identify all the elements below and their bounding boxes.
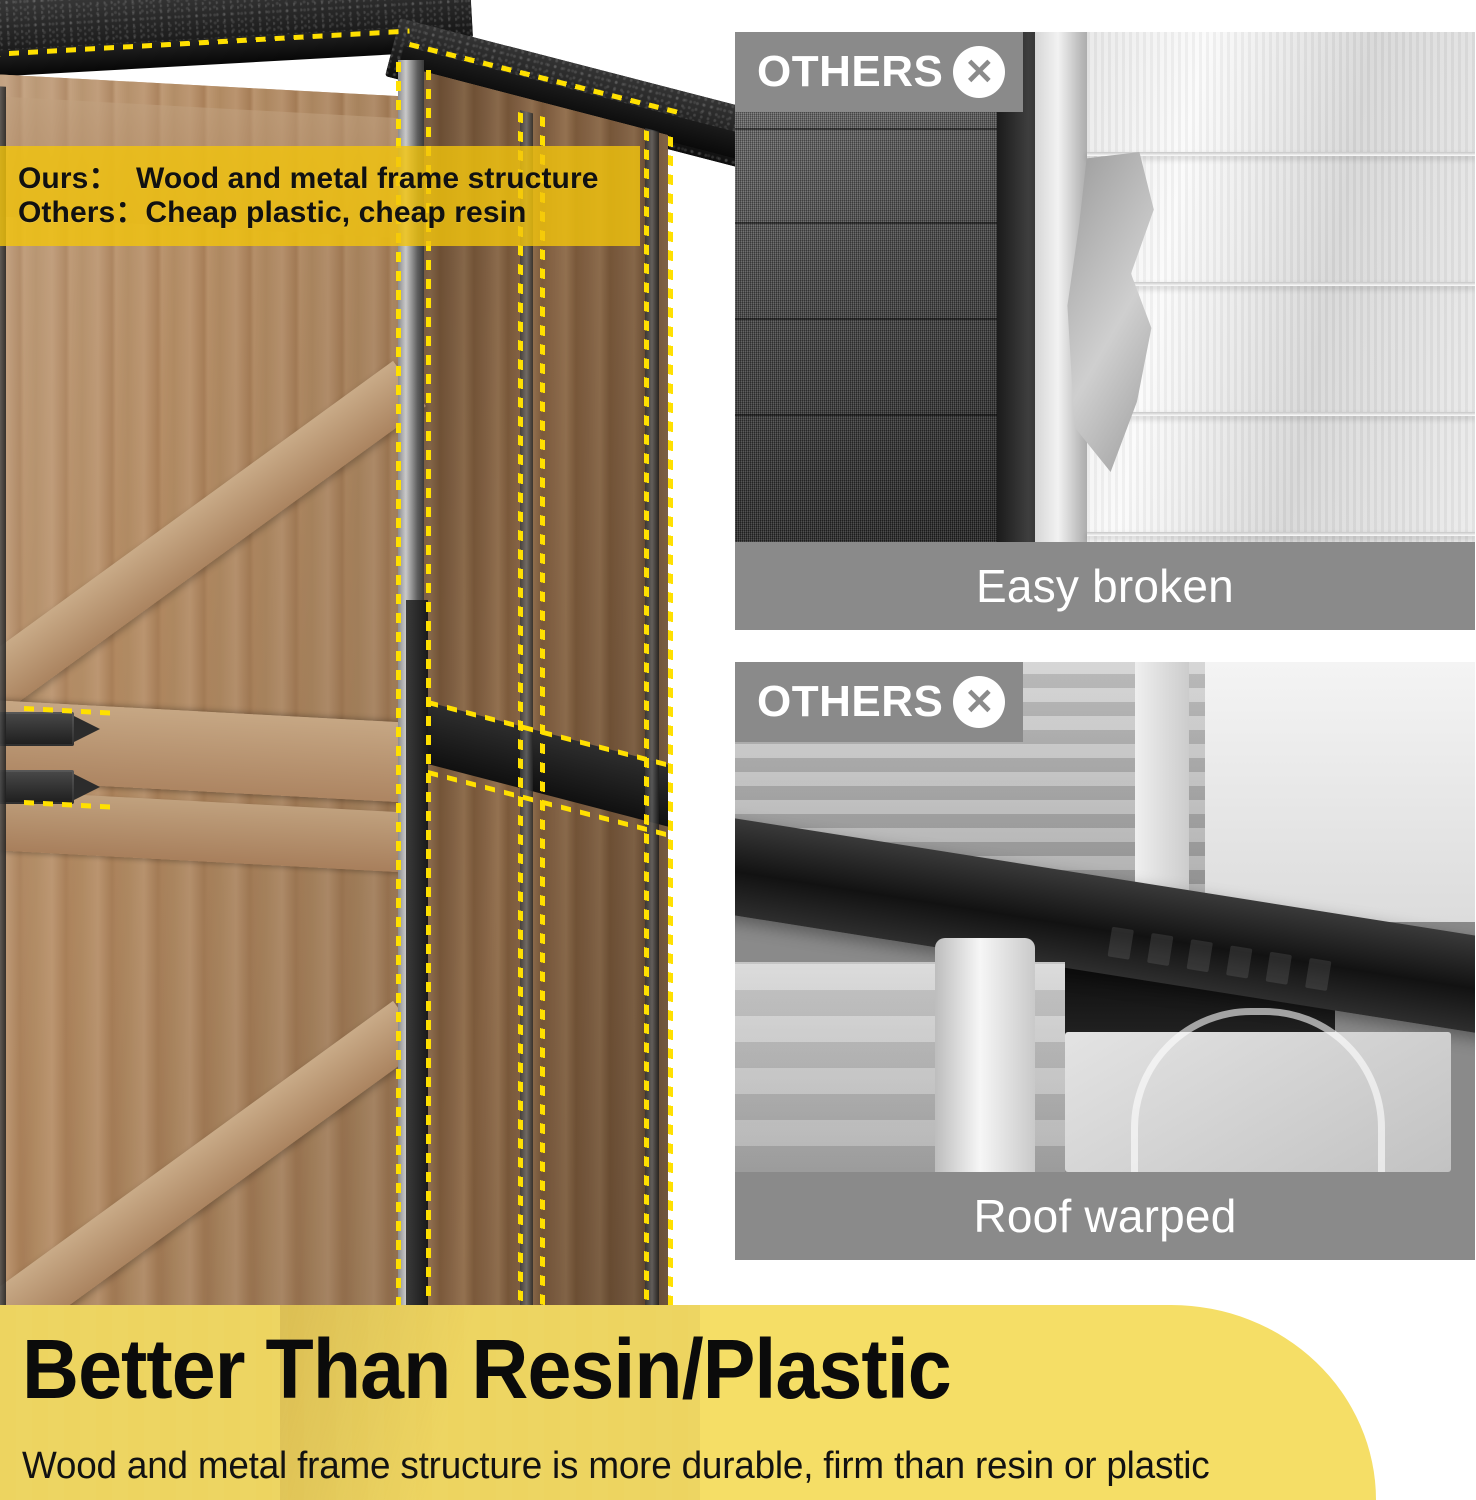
others-badge: OTHERS ✕ bbox=[735, 662, 1023, 742]
photo-vinyl-siding bbox=[1087, 32, 1475, 542]
callout-others-key: Others： bbox=[18, 197, 145, 229]
shed-front-left-post bbox=[0, 86, 6, 1377]
callout-row-ours: Ours：Wood and metal frame structure bbox=[18, 163, 640, 195]
others-badge-label: OTHERS bbox=[757, 50, 943, 94]
frame-highlight-side-post-1b bbox=[540, 116, 545, 1373]
frame-highlight-side-post-1 bbox=[518, 112, 523, 1373]
bottom-banner: Better Than Resin/Plastic Wood and metal… bbox=[0, 1305, 1376, 1500]
roof-warped-caption: Roof warped bbox=[735, 1172, 1475, 1260]
product-hero-photo: Ours：Wood and metal frame structure Othe… bbox=[0, 0, 735, 1500]
photo-shed-corner-column bbox=[935, 938, 1035, 1172]
frame-highlight-corner bbox=[396, 62, 401, 1362]
banner-headline: Better Than Resin/Plastic bbox=[22, 1327, 951, 1411]
frame-highlight-corner-inner bbox=[426, 70, 431, 1362]
others-panel-easy-broken: OTHERS ✕ Easy broken bbox=[735, 32, 1475, 630]
others-badge: OTHERS ✕ bbox=[735, 32, 1023, 112]
photo-window-trim bbox=[1135, 662, 1189, 912]
photo-shed-door bbox=[1065, 1032, 1451, 1172]
shed-corner-post-shadow bbox=[406, 600, 428, 1400]
easy-broken-caption: Easy broken bbox=[735, 542, 1475, 630]
callout-ours-key: Ours： bbox=[18, 163, 136, 195]
x-mark-icon: ✕ bbox=[953, 676, 1005, 728]
x-mark-icon: ✕ bbox=[953, 46, 1005, 98]
others-badge-label: OTHERS bbox=[757, 680, 943, 724]
comparison-callout: Ours：Wood and metal frame structure Othe… bbox=[0, 146, 640, 246]
frame-highlight-side-post-2 bbox=[644, 130, 649, 1369]
banner-subline: Wood and metal frame structure is more d… bbox=[22, 1445, 1210, 1488]
frame-highlight-side-edge bbox=[668, 136, 673, 1369]
shed-door-hinge-upper bbox=[0, 712, 74, 746]
callout-row-others: Others：Cheap plastic, cheap resin bbox=[18, 197, 640, 229]
others-panel-roof-warped: OTHERS ✕ Roof warped bbox=[735, 662, 1475, 1260]
callout-ours-value: Wood and metal frame structure bbox=[136, 162, 599, 195]
promo-image-stage: Ours：Wood and metal frame structure Othe… bbox=[0, 0, 1476, 1500]
callout-others-value: Cheap plastic, cheap resin bbox=[145, 196, 526, 229]
shed-door-hinge-lower bbox=[0, 770, 74, 804]
